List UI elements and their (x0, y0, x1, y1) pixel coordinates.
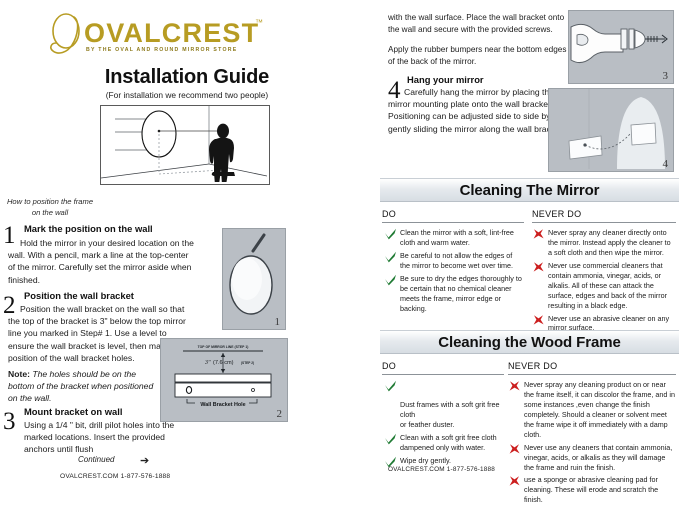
cross-icon (532, 261, 545, 273)
panel-4-number: 4 (663, 158, 669, 170)
cross-icon (508, 475, 521, 487)
right-column: with the wall surface. Place the wall br… (380, 0, 679, 489)
drill-screw-icon (569, 11, 671, 81)
panel-2-number: 2 (277, 408, 283, 420)
check-icon (384, 274, 397, 286)
list-item-text: Clean the mirror with a soft, lint-free … (400, 228, 514, 247)
list-item-text: Wipe dry gently. (400, 456, 451, 465)
room-position-diagram (100, 105, 270, 185)
section-2-do-label: DO (382, 361, 396, 371)
list-item-text: Be sure to dry the edges thoroughly to b… (400, 274, 522, 313)
room-diagram-svg (101, 106, 267, 182)
panel-3-drill-photo: 3 (568, 10, 674, 84)
continued-label: Continued (78, 455, 114, 464)
footer-left: OVALCREST.COM 1-877-576-1888 (60, 473, 170, 480)
mirror-with-pencil-icon (223, 229, 283, 327)
svg-text:(STEP 2): (STEP 2) (241, 361, 254, 365)
check-icon (384, 251, 397, 263)
logo-wordmark: OVALCREST (84, 18, 259, 49)
list-item-text: Never spray any cleaning product on or n… (524, 380, 675, 439)
section-2-title: Cleaning the Wood Frame (438, 334, 620, 351)
hang-mirror-plate-icon (549, 89, 671, 169)
step-3-body: Using a 1/4 " bit, drill pilot holes int… (24, 419, 179, 456)
trademark-icon: ™ (255, 18, 263, 27)
cross-icon (508, 380, 521, 392)
logo-tagline: BY THE OVAL AND ROUND MIRROR STORE (86, 47, 237, 53)
step-4-body: Carefully hang the mirror by placing the… (388, 86, 568, 135)
footer-right: OVALCREST.COM 1-877-576-1888 (388, 466, 495, 473)
wall-bracket-measure-svg: TOP OF MIRROR LINE (STEP 1) 3" (7.6 cm) … (161, 339, 285, 419)
list-item: Never use any cleaners that contain ammo… (508, 443, 676, 473)
section-2-do-list: Dust frames with a soft grit free cloth … (384, 380, 502, 469)
panel-2-bracket-diagram: TOP OF MIRROR LINE (STEP 1) 3" (7.6 cm) … (160, 338, 288, 422)
list-item: Wipe dry gently. (384, 456, 502, 466)
list-item: Dust frames with a soft grit free cloth … (384, 380, 502, 430)
section-1-do-rule (382, 222, 524, 223)
svg-text:(7.6 cm): (7.6 cm) (213, 360, 234, 366)
section-1-never-list: Never spray any cleaner directly onto th… (532, 228, 676, 336)
list-item: Be sure to dry the edges thoroughly to b… (384, 274, 524, 314)
diagram-caption: How to position the frame on the wall (6, 196, 94, 218)
section-cleaning-the-mirror: Cleaning The Mirror DO NEVER DO Clean th… (380, 178, 679, 324)
list-item-text: Never spray any cleaner directly onto th… (548, 228, 671, 257)
panel-1-mirror-photo: 1 (222, 228, 286, 330)
continued-arrow-icon: ➔ (140, 454, 149, 467)
list-item: Never spray any cleaner directly onto th… (532, 228, 676, 258)
brand-logo: OVALCREST ™ BY THE OVAL AND ROUND MIRROR… (40, 12, 280, 56)
section-1-title: Cleaning The Mirror (460, 182, 600, 199)
cross-icon (532, 314, 545, 326)
step-2-heading: Position the wall bracket (24, 290, 134, 301)
list-item-text: Dust frames with a soft grit free cloth … (400, 400, 499, 429)
section-2-header: Cleaning the Wood Frame (380, 330, 679, 354)
step-3-number: 3 (3, 409, 16, 434)
section-cleaning-the-wood-frame: Cleaning the Wood Frame DO NEVER DO Dust… (380, 330, 679, 504)
step-4-heading: Hang your mirror (407, 74, 484, 85)
section-1-do-label: DO (382, 209, 396, 219)
left-column: OVALCREST ™ BY THE OVAL AND ROUND MIRROR… (0, 0, 374, 489)
check-icon (384, 433, 397, 445)
continued-paragraph-1: with the wall surface. Place the wall br… (388, 12, 570, 37)
svg-text:TOP OF MIRROR LINE (STEP 1): TOP OF MIRROR LINE (STEP 1) (198, 345, 249, 349)
svg-text:Wall Bracket Hole: Wall Bracket Hole (200, 402, 245, 408)
check-icon (384, 228, 397, 240)
list-item: Be careful to not allow the edges of the… (384, 251, 524, 271)
step-1-heading: Mark the position on the wall (24, 223, 153, 234)
list-item: Clean the mirror with a soft, lint-free … (384, 228, 524, 248)
panel-4-hang-mirror-photo: 4 (548, 88, 674, 172)
svg-text:3": 3" (204, 360, 211, 366)
cross-icon (508, 443, 521, 455)
list-item-text: Clean with a soft grit free cloth dampen… (400, 433, 497, 452)
step-2-note: Note: The holes should be on the bottom … (8, 368, 158, 405)
section-2-do-rule (382, 374, 504, 375)
list-item: Never spray any cleaning product on or n… (508, 380, 676, 440)
list-item-text: Never use commercial cleaners that conta… (548, 261, 667, 310)
step-2-note-text: The holes should be on the bottom of the… (8, 369, 153, 403)
step-1-body: Hold the mirror in your desired location… (8, 237, 194, 286)
page-title: Installation Guide (0, 66, 374, 89)
panel-1-number: 1 (275, 316, 281, 328)
list-item-text: use a sponge or abrasive cleaning pad fo… (524, 475, 658, 504)
continued-paragraph-2: Apply the rubber bumpers near the bottom… (388, 44, 570, 69)
list-item: Clean with a soft grit free cloth dampen… (384, 433, 502, 453)
list-item-text: Be careful to not allow the edges of the… (400, 251, 513, 270)
section-2-never-rule (508, 374, 676, 375)
step-3-heading: Mount bracket on wall (24, 406, 122, 417)
cross-icon (532, 228, 545, 240)
list-item-text: Never use any cleaners that contain ammo… (524, 443, 672, 472)
installation-guide-page: OVALCREST ™ BY THE OVAL AND ROUND MIRROR… (0, 0, 679, 489)
panel-3-number: 3 (663, 70, 669, 82)
section-1-header: Cleaning The Mirror (380, 178, 679, 202)
step-2-note-label: Note: (8, 369, 30, 379)
check-icon (384, 380, 397, 392)
diagram-caption-line1: How to position the frame on the wall (7, 197, 93, 217)
page-subtitle: (For installation we recommend two peopl… (0, 90, 374, 100)
section-2-never-label: NEVER DO (508, 361, 557, 371)
section-1-never-rule (532, 222, 676, 223)
list-item: Never use commercial cleaners that conta… (532, 261, 676, 311)
section-1-do-list: Clean the mirror with a soft, lint-free … (384, 228, 524, 317)
section-1-never-label: NEVER DO (532, 209, 581, 219)
list-item: use a sponge or abrasive cleaning pad fo… (508, 475, 676, 505)
